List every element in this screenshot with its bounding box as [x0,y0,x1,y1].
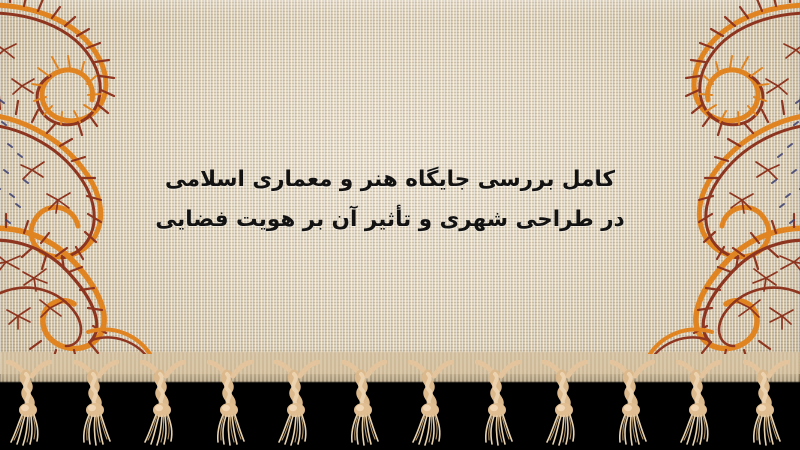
tassel [475,360,521,446]
tassel [140,360,186,446]
title-line-2: در طراحی شهری و تأثیر آن بر هویت فضایی [150,200,630,240]
tassel [542,360,588,446]
textile-poster: کامل بررسی جایگاه هنر و معماری اسلامی در… [0,0,800,450]
tassel [609,360,655,446]
tassel [73,360,119,446]
title-line-1: کامل بررسی جایگاه هنر و معماری اسلامی [150,160,630,200]
poster-title: کامل بررسی جایگاه هنر و معماری اسلامی در… [150,160,630,240]
tassel [743,360,789,446]
tassel [676,360,722,446]
tassel [341,360,387,446]
tassel [6,360,52,446]
tassel-fringe [0,360,800,450]
tassel [207,360,253,446]
tassel [274,360,320,446]
tassel [408,360,454,446]
